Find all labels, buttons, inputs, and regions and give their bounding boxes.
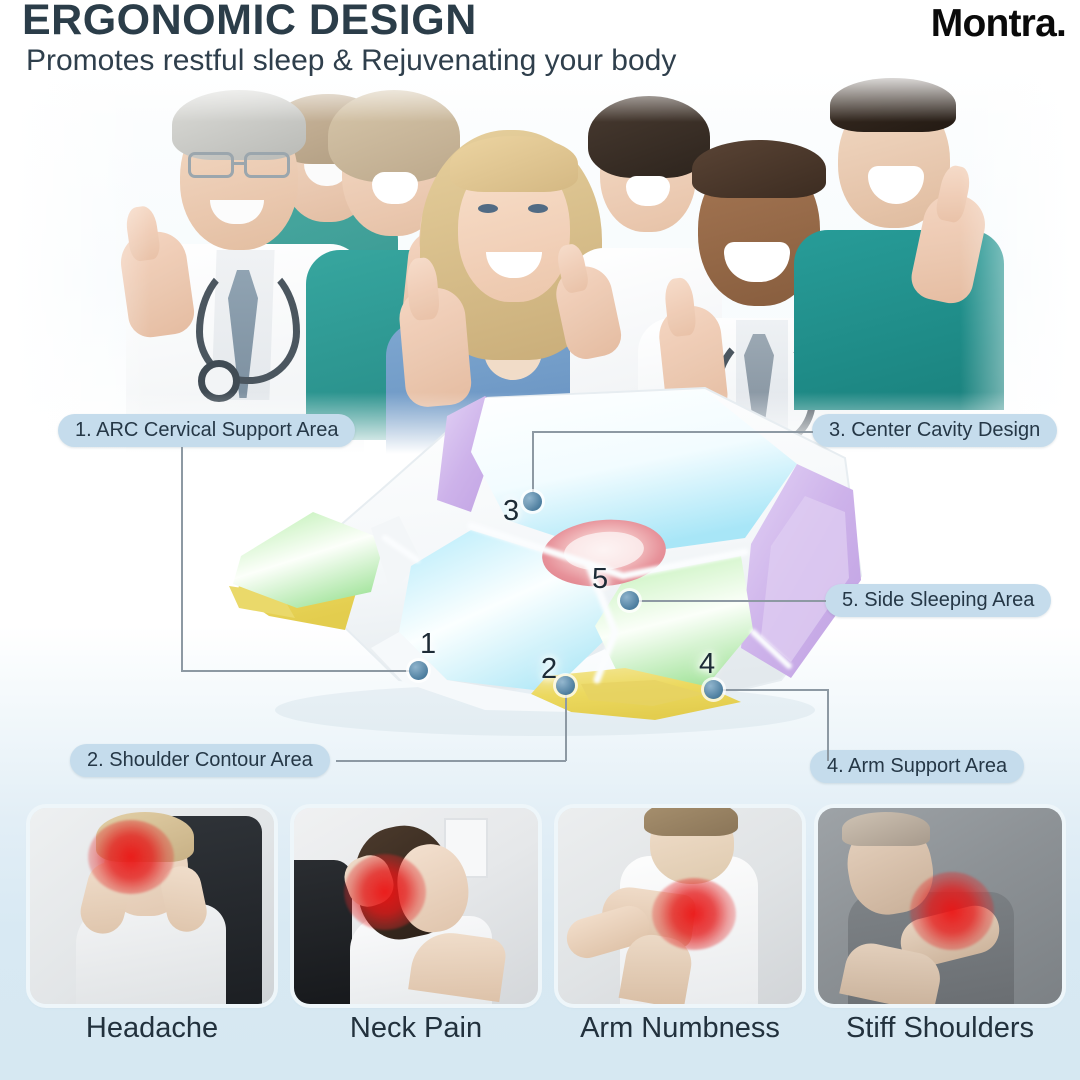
callout-label-5[interactable]: 5. Side Sleeping Area bbox=[825, 584, 1051, 617]
connector-2-vertical bbox=[565, 684, 567, 761]
marker-number-1: 1 bbox=[420, 628, 436, 661]
infographic-root: ERGONOMIC DESIGN Promotes restful sleep … bbox=[0, 0, 1080, 1080]
marker-number-5: 5 bbox=[592, 563, 608, 596]
symptom-card-row: Headache Neck Pain bbox=[0, 808, 1080, 1080]
connector-1-horizontal bbox=[181, 670, 418, 672]
connector-3-vertical bbox=[532, 431, 534, 496]
symptom-card-stiff-shoulders[interactable] bbox=[818, 808, 1062, 1004]
pain-indicator bbox=[88, 820, 174, 894]
symptom-photo-neck-pain bbox=[294, 808, 538, 1004]
symptom-caption-neck-pain: Neck Pain bbox=[294, 1012, 538, 1045]
marker-dot-2[interactable] bbox=[556, 676, 575, 695]
callout-label-3[interactable]: 3. Center Cavity Design bbox=[812, 414, 1057, 447]
symptom-photo-arm-numbness bbox=[558, 808, 802, 1004]
symptom-caption-arm-numbness: Arm Numbness bbox=[558, 1012, 802, 1045]
symptom-photo-headache bbox=[30, 808, 274, 1004]
page-title: ERGONOMIC DESIGN bbox=[22, 0, 477, 45]
connector-4-vertical bbox=[827, 689, 829, 761]
connector-3-horizontal bbox=[533, 431, 813, 433]
pain-indicator bbox=[652, 878, 736, 950]
marker-dot-5[interactable] bbox=[620, 591, 639, 610]
marker-dot-1[interactable] bbox=[409, 661, 428, 680]
marker-number-2: 2 bbox=[541, 653, 557, 686]
connector-1-vertical bbox=[181, 447, 183, 671]
callout-label-1[interactable]: 1. ARC Cervical Support Area bbox=[58, 414, 355, 447]
marker-number-4: 4 bbox=[699, 648, 715, 681]
connector-4-horizontal bbox=[714, 689, 828, 691]
page-subtitle: Promotes restful sleep & Rejuvenating yo… bbox=[26, 44, 676, 78]
marker-dot-4[interactable] bbox=[704, 680, 723, 699]
callout-label-2[interactable]: 2. Shoulder Contour Area bbox=[70, 744, 330, 777]
symptom-card-headache[interactable] bbox=[30, 808, 274, 1004]
marker-dot-3[interactable] bbox=[523, 492, 542, 511]
symptom-card-arm-numbness[interactable] bbox=[558, 808, 802, 1004]
photo-left-fade bbox=[0, 62, 150, 462]
marker-number-3: 3 bbox=[503, 495, 519, 528]
connector-2-horizontal bbox=[336, 760, 566, 762]
brand-logo: Montra. bbox=[931, 2, 1066, 46]
symptom-caption-headache: Headache bbox=[30, 1012, 274, 1045]
symptom-photo-stiff-shoulders bbox=[818, 808, 1062, 1004]
photo-right-fade bbox=[960, 62, 1080, 462]
callout-label-4[interactable]: 4. Arm Support Area bbox=[810, 750, 1024, 783]
symptom-card-neck-pain[interactable] bbox=[294, 808, 538, 1004]
symptom-caption-stiff-shoulders: Stiff Shoulders bbox=[818, 1012, 1062, 1045]
connector-5-horizontal bbox=[630, 600, 826, 602]
pain-indicator bbox=[344, 854, 426, 930]
pain-indicator bbox=[910, 872, 994, 950]
